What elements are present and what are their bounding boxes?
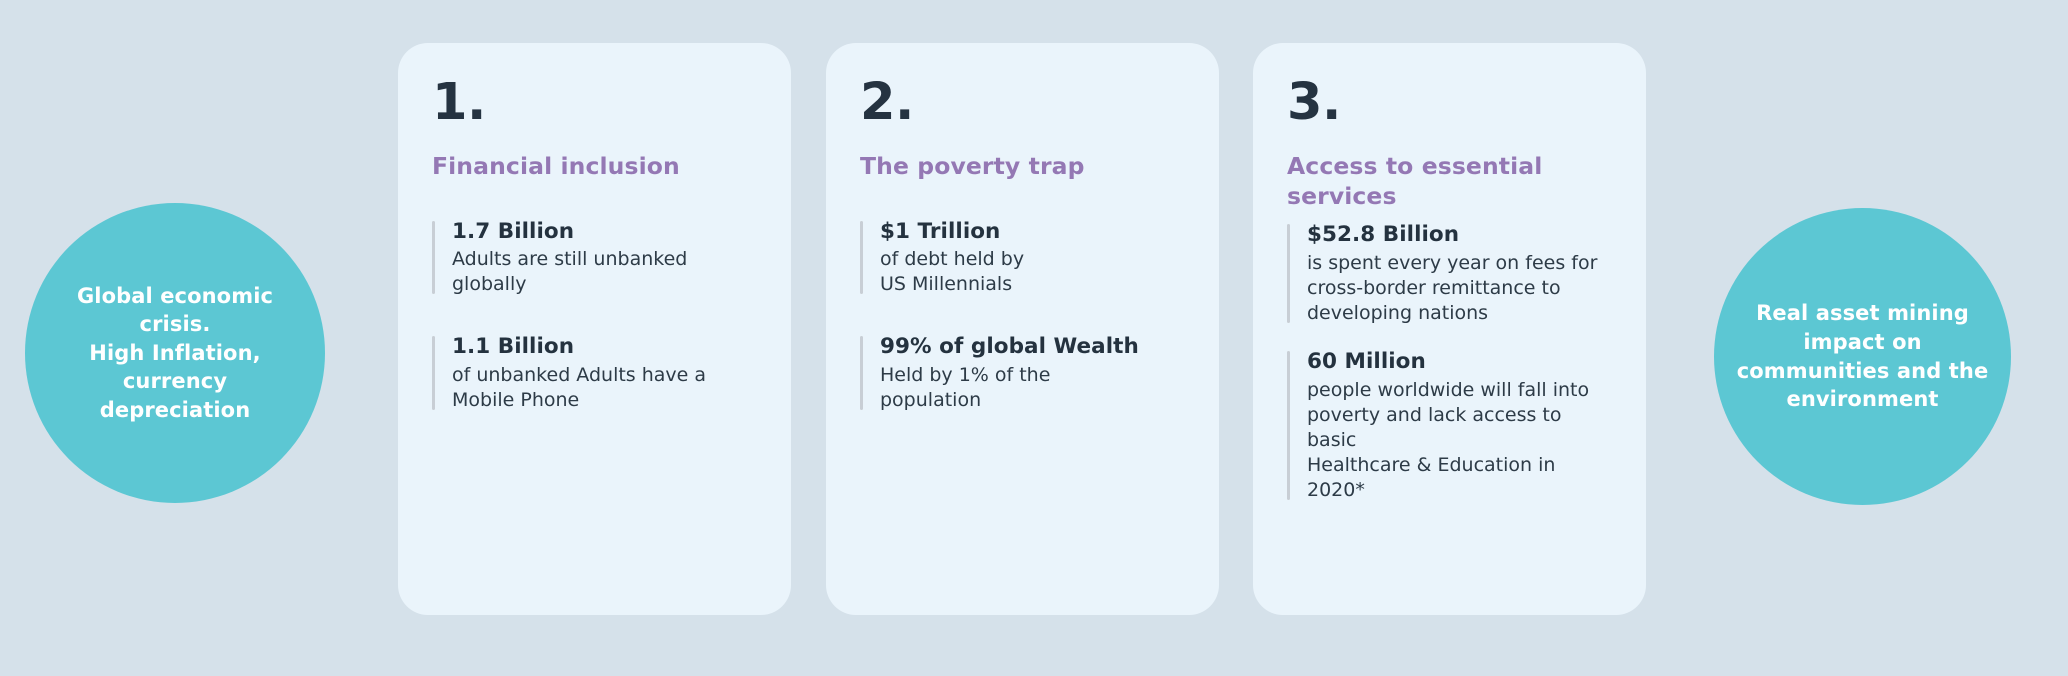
card-financial-inclusion[interactable]: 1. Financial inclusion 1.7 Billion Adult… xyxy=(398,43,791,615)
stat-value: 1.1 Billion xyxy=(452,333,757,361)
card-3-stats: $52.8 Billion is spent every year on fee… xyxy=(1287,221,1612,503)
stat-value: $52.8 Billion xyxy=(1307,221,1612,249)
card-access-to-essential-services[interactable]: 3. Access to essential services $52.8 Bi… xyxy=(1253,43,1646,615)
stat-description: is spent every year on fees for cross-bo… xyxy=(1307,251,1612,326)
stat-description: Adults are still unbanked globally xyxy=(452,247,757,297)
right-circle-text: Real asset mining impact on communities … xyxy=(1731,299,1995,413)
accent-bar-icon xyxy=(860,336,863,410)
accent-bar-icon xyxy=(860,221,863,295)
card-1-stats: 1.7 Billion Adults are still unbanked gl… xyxy=(432,218,757,413)
stat-description: Held by 1% of the population xyxy=(880,363,1185,413)
left-context-circle: Global economic crisis. High Inflation, … xyxy=(25,203,325,503)
right-context-circle: Real asset mining impact on communities … xyxy=(1714,208,2011,505)
accent-bar-icon xyxy=(432,336,435,410)
card-3-subtitle: Access to essential services xyxy=(1287,152,1612,211)
stat-value: 1.7 Billion xyxy=(452,218,757,246)
stat-description: people worldwide will fall into poverty … xyxy=(1307,378,1612,503)
left-circle-text: Global economic crisis. High Inflation, … xyxy=(25,282,325,425)
infographic-canvas: Global economic crisis. High Inflation, … xyxy=(0,0,2068,676)
card-2-subtitle: The poverty trap xyxy=(860,152,1185,182)
stat-item: 60 Million people worldwide will fall in… xyxy=(1287,348,1612,503)
stat-description: of debt held by US Millennials xyxy=(880,247,1185,297)
card-3-number: 3. xyxy=(1287,76,1612,130)
accent-bar-icon xyxy=(1287,351,1290,500)
stat-value: 99% of global Wealth xyxy=(880,333,1185,361)
stat-item: $52.8 Billion is spent every year on fee… xyxy=(1287,221,1612,326)
stat-item: 99% of global Wealth Held by 1% of the p… xyxy=(860,333,1185,413)
stat-value: 60 Million xyxy=(1307,348,1612,376)
stat-value: $1 Trillion xyxy=(880,218,1185,246)
stat-item: $1 Trillion of debt held by US Millennia… xyxy=(860,218,1185,298)
card-2-number: 2. xyxy=(860,76,1185,130)
card-1-number: 1. xyxy=(432,76,757,130)
accent-bar-icon xyxy=(1287,224,1290,323)
stat-item: 1.1 Billion of unbanked Adults have a Mo… xyxy=(432,333,757,413)
stat-item: 1.7 Billion Adults are still unbanked gl… xyxy=(432,218,757,298)
card-poverty-trap[interactable]: 2. The poverty trap $1 Trillion of debt … xyxy=(826,43,1219,615)
stat-description: of unbanked Adults have a Mobile Phone xyxy=(452,363,757,413)
card-1-subtitle: Financial inclusion xyxy=(432,152,757,182)
accent-bar-icon xyxy=(432,221,435,295)
card-2-stats: $1 Trillion of debt held by US Millennia… xyxy=(860,218,1185,413)
